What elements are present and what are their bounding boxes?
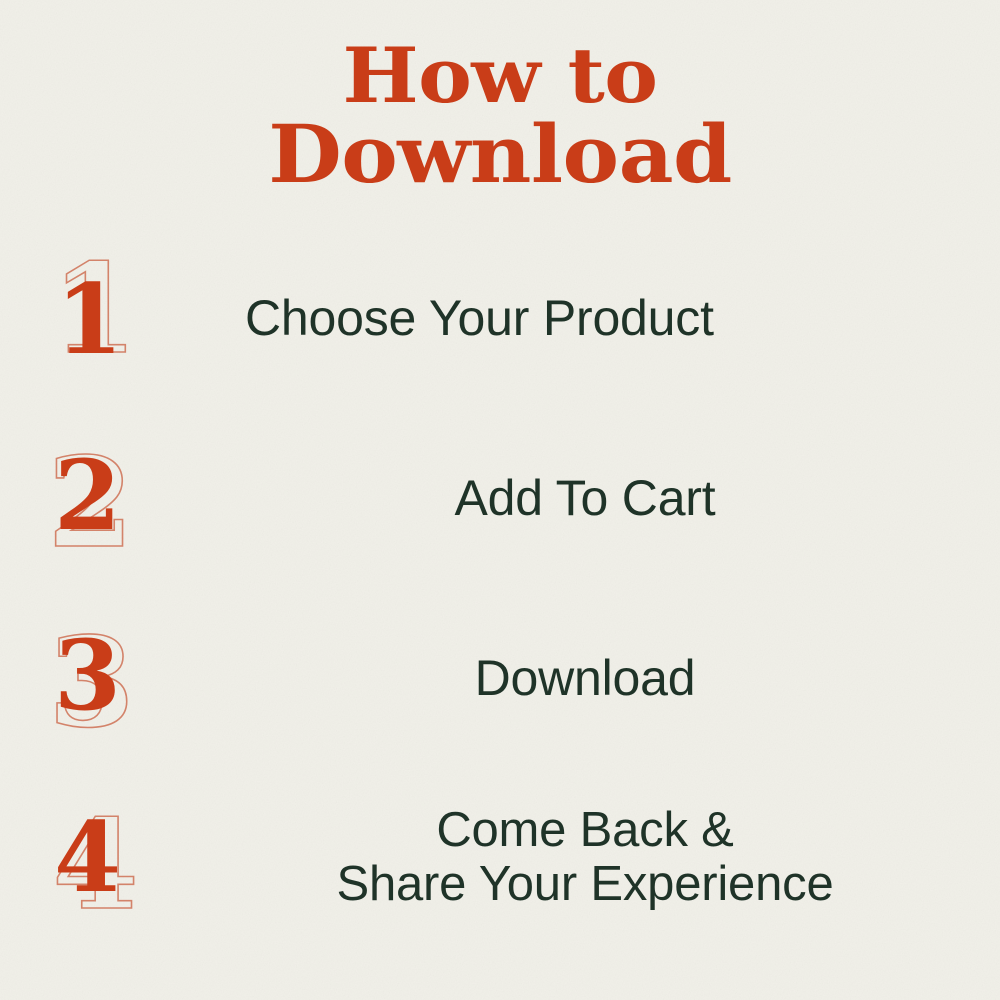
step-number-solid: 2	[20, 406, 155, 586]
step-number-solid: 4	[20, 768, 155, 948]
step-row: 2 2 Add To Cart	[0, 408, 1000, 588]
step-number-solid: 3	[20, 586, 155, 766]
title-line-1: How to	[0, 38, 1000, 113]
how-to-download-poster: How to Download 1 1 Choose Your Product …	[0, 0, 1000, 1000]
step-label-line: Download	[475, 651, 696, 705]
step-number-badge: 2 2	[22, 408, 157, 588]
page-title: How to Download	[0, 38, 1000, 194]
step-label-line: Add To Cart	[455, 471, 716, 525]
step-number-solid: 1	[22, 230, 157, 410]
step-label-line: Choose Your Product	[245, 291, 714, 345]
step-label: Add To Cart	[170, 408, 1000, 588]
step-label: Choose Your Product	[170, 228, 1000, 408]
step-label-line: Share Your Experience	[336, 858, 833, 912]
step-row: 3 3 Download	[0, 588, 1000, 768]
step-label: Download	[170, 588, 1000, 768]
step-row: 1 1 Choose Your Product	[0, 228, 1000, 408]
step-number-badge: 3 3	[22, 588, 157, 768]
step-number-badge: 4 4	[22, 768, 157, 948]
steps-list: 1 1 Choose Your Product 2 2 Add To Cart …	[0, 228, 1000, 948]
step-label-line: Come Back &	[436, 804, 733, 858]
step-label: Come Back & Share Your Experience	[170, 768, 1000, 948]
title-line-2: Download	[0, 115, 1000, 194]
step-number-badge: 1 1	[22, 228, 157, 408]
step-row: 4 4 Come Back & Share Your Experience	[0, 768, 1000, 948]
